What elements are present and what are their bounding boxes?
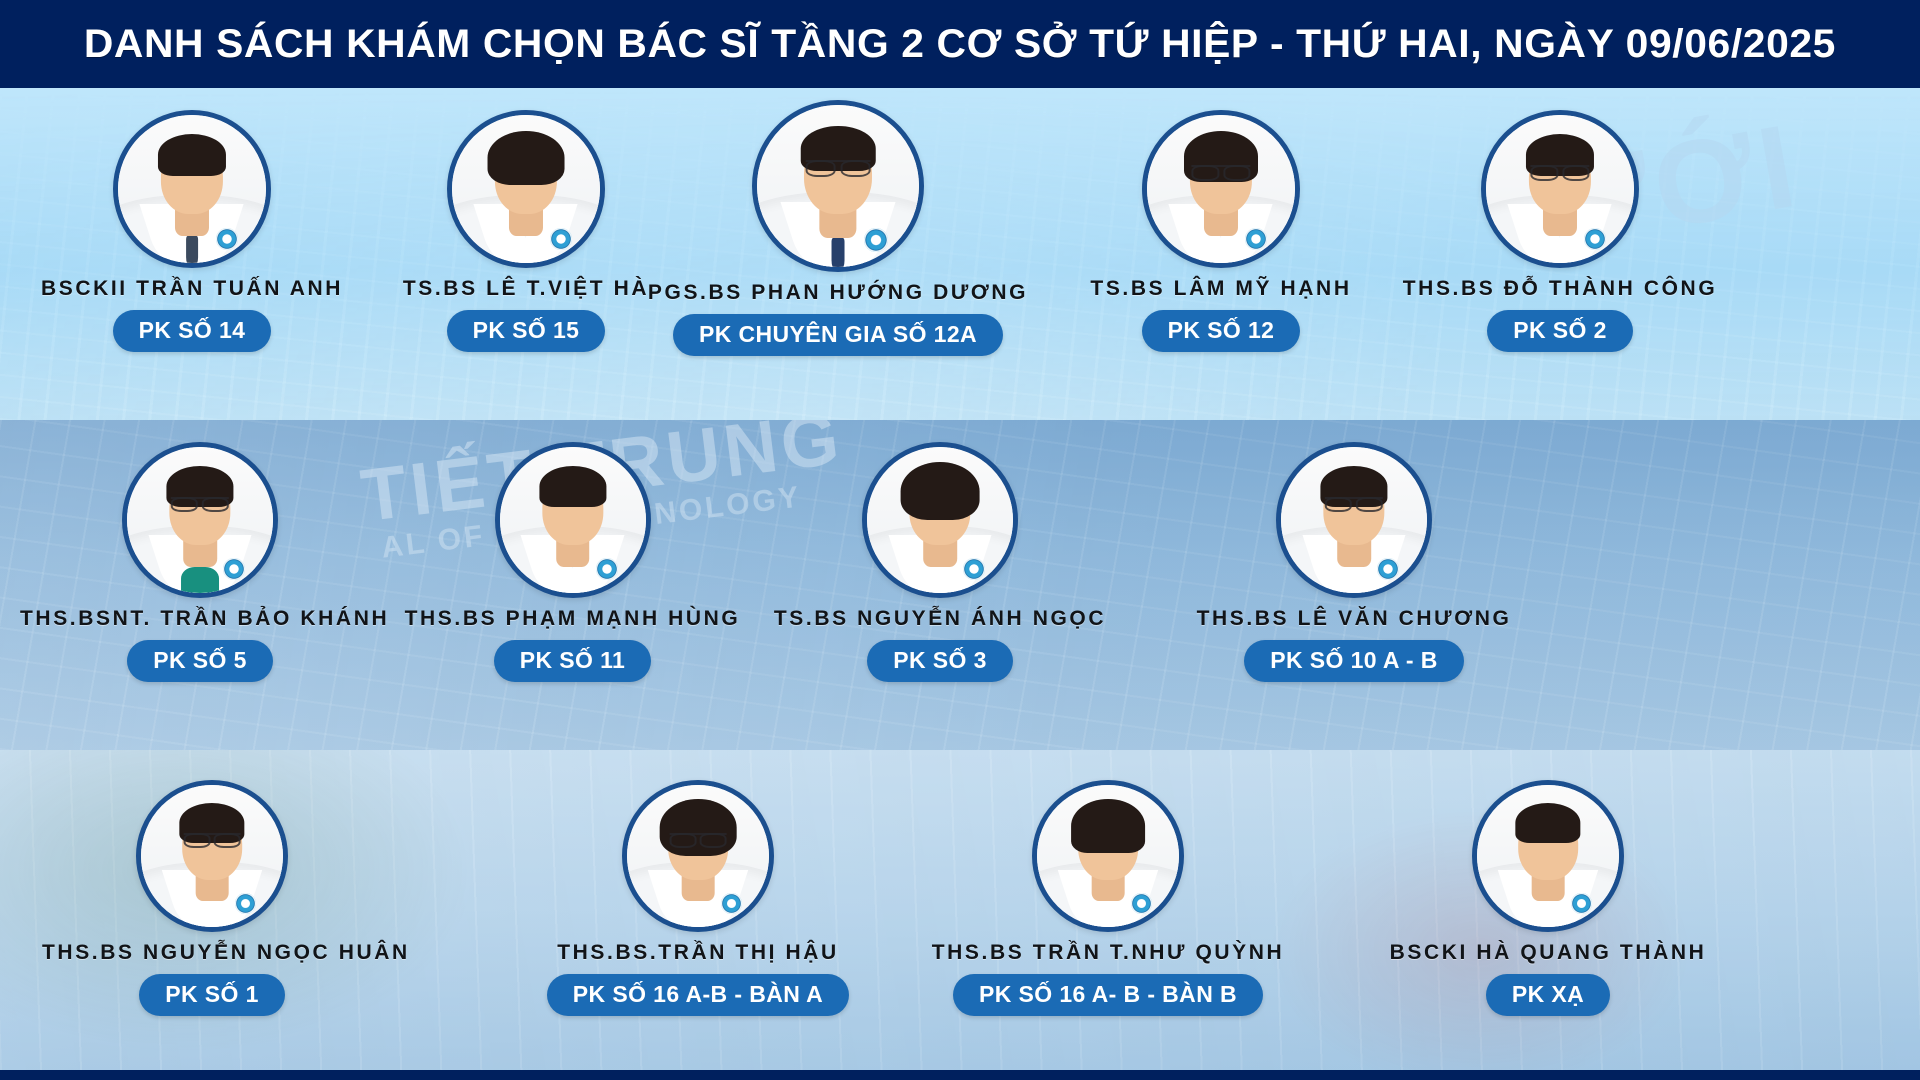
doctor-card[interactable]: THS.BS.TRẦN THỊ HẬU PK SỐ 16 A-B - BÀN A [540,780,856,1016]
avatar [1472,780,1624,932]
room-badge[interactable]: PK SỐ 12 [1142,310,1301,352]
doctor-card[interactable]: THS.BSNT. TRẦN BẢO KHÁNH PK SỐ 5 [20,442,380,682]
portrait-photo [127,447,273,593]
doctor-name: THS.BSNT. TRẦN BẢO KHÁNH [20,607,380,631]
doctor-row-2: TIẾT TRUNG AL OF ENDOCRINOLOGY THS.BSNT.… [0,420,1920,750]
portrait-photo [141,785,283,927]
doctor-card[interactable]: THS.BS LÊ VĂN CHƯƠNG PK SỐ 10 A - B [1178,442,1530,682]
portrait-photo [757,105,919,267]
doctor-card[interactable]: THS.BS ĐỖ THÀNH CÔNG PK SỐ 2 [1395,110,1725,352]
avatar [1481,110,1639,268]
doctor-card[interactable]: TS.BS LÂM MỸ HẠNH PK SỐ 12 [1062,110,1380,352]
portrait-photo [627,785,769,927]
doctor-card[interactable]: THS.BS NGUYỄN NGỌC HUÂN PK SỐ 1 [42,780,382,1016]
portrait-photo [1486,115,1634,263]
room-badge[interactable]: PK XẠ [1486,974,1610,1016]
room-badge[interactable]: PK SỐ 5 [127,640,273,682]
room-badge[interactable]: PK SỐ 3 [867,640,1013,682]
avatar [122,442,278,598]
avatar [752,100,924,272]
doctor-card[interactable]: PGS.BS PHAN HƯỚNG DƯƠNG PK CHUYÊN GIA SỐ… [630,100,1046,356]
avatar [1032,780,1184,932]
avatar [495,442,651,598]
portrait-photo [1037,785,1179,927]
page-title: DANH SÁCH KHÁM CHỌN BÁC SĨ TẦNG 2 CƠ SỞ … [84,22,1836,67]
room-badge[interactable]: PK SỐ 10 A - B [1244,640,1464,682]
doctor-name: THS.BS TRẦN T.NHƯ QUỲNH [930,941,1286,965]
doctor-name: BSCKII TRẦN TUẤN ANH [32,277,352,301]
portrait-photo [118,115,266,263]
page-footer [0,1070,1920,1080]
doctor-card[interactable]: BSCKII TRẦN TUẤN ANH PK SỐ 14 [32,110,352,352]
doctor-card[interactable]: BSCKI HÀ QUANG THÀNH PK XẠ [1382,780,1714,1016]
avatar [113,110,271,268]
room-badge[interactable]: PK SỐ 1 [139,974,285,1016]
doctor-name: TS.BS NGUYỄN ÁNH NGỌC [770,607,1110,631]
doctor-name: BSCKI HÀ QUANG THÀNH [1382,941,1714,965]
portrait-photo [500,447,646,593]
portrait-photo [1147,115,1295,263]
avatar [1276,442,1432,598]
room-badge[interactable]: PK SỐ 11 [494,640,651,682]
avatar [1142,110,1300,268]
doctor-card[interactable]: TS.BS NGUYỄN ÁNH NGỌC PK SỐ 3 [770,442,1110,682]
doctor-card[interactable]: THS.BS TRẦN T.NHƯ QUỲNH PK SỐ 16 A- B - … [930,780,1286,1016]
doctor-card[interactable]: THS.BS PHẠM MẠNH HÙNG PK SỐ 11 [395,442,750,682]
avatar [622,780,774,932]
avatar [136,780,288,932]
doctor-name: THS.BS LÊ VĂN CHƯƠNG [1178,607,1530,631]
doctor-row-1: ƯỚI BSCKII TRẦN TUẤN ANH PK SỐ 14 TS.BS … [0,88,1920,420]
doctor-row-3: THS.BS NGUYỄN NGỌC HUÂN PK SỐ 1 THS.BS.T… [0,750,1920,1070]
doctor-name: TS.BS LÂM MỸ HẠNH [1062,277,1380,301]
room-badge[interactable]: PK SỐ 14 [113,310,272,352]
doctor-name: THS.BS.TRẦN THỊ HẬU [540,941,856,965]
portrait-photo [1477,785,1619,927]
room-badge[interactable]: PK SỐ 15 [447,310,606,352]
doctor-name: THS.BS NGUYỄN NGỌC HUÂN [42,941,382,965]
portrait-photo [452,115,600,263]
portrait-photo [1281,447,1427,593]
avatar [862,442,1018,598]
doctor-name: THS.BS ĐỖ THÀNH CÔNG [1395,277,1725,301]
avatar [447,110,605,268]
room-badge[interactable]: PK SỐ 16 A-B - BÀN A [547,974,849,1016]
room-badge[interactable]: PK SỐ 16 A- B - BÀN B [953,974,1263,1016]
room-badge[interactable]: PK CHUYÊN GIA SỐ 12A [673,314,1003,356]
room-badge[interactable]: PK SỐ 2 [1487,310,1633,352]
page-header: DANH SÁCH KHÁM CHỌN BÁC SĨ TẦNG 2 CƠ SỞ … [0,0,1920,88]
portrait-photo [867,447,1013,593]
doctor-name: THS.BS PHẠM MẠNH HÙNG [395,607,750,631]
doctor-name: PGS.BS PHAN HƯỚNG DƯƠNG [630,281,1046,305]
